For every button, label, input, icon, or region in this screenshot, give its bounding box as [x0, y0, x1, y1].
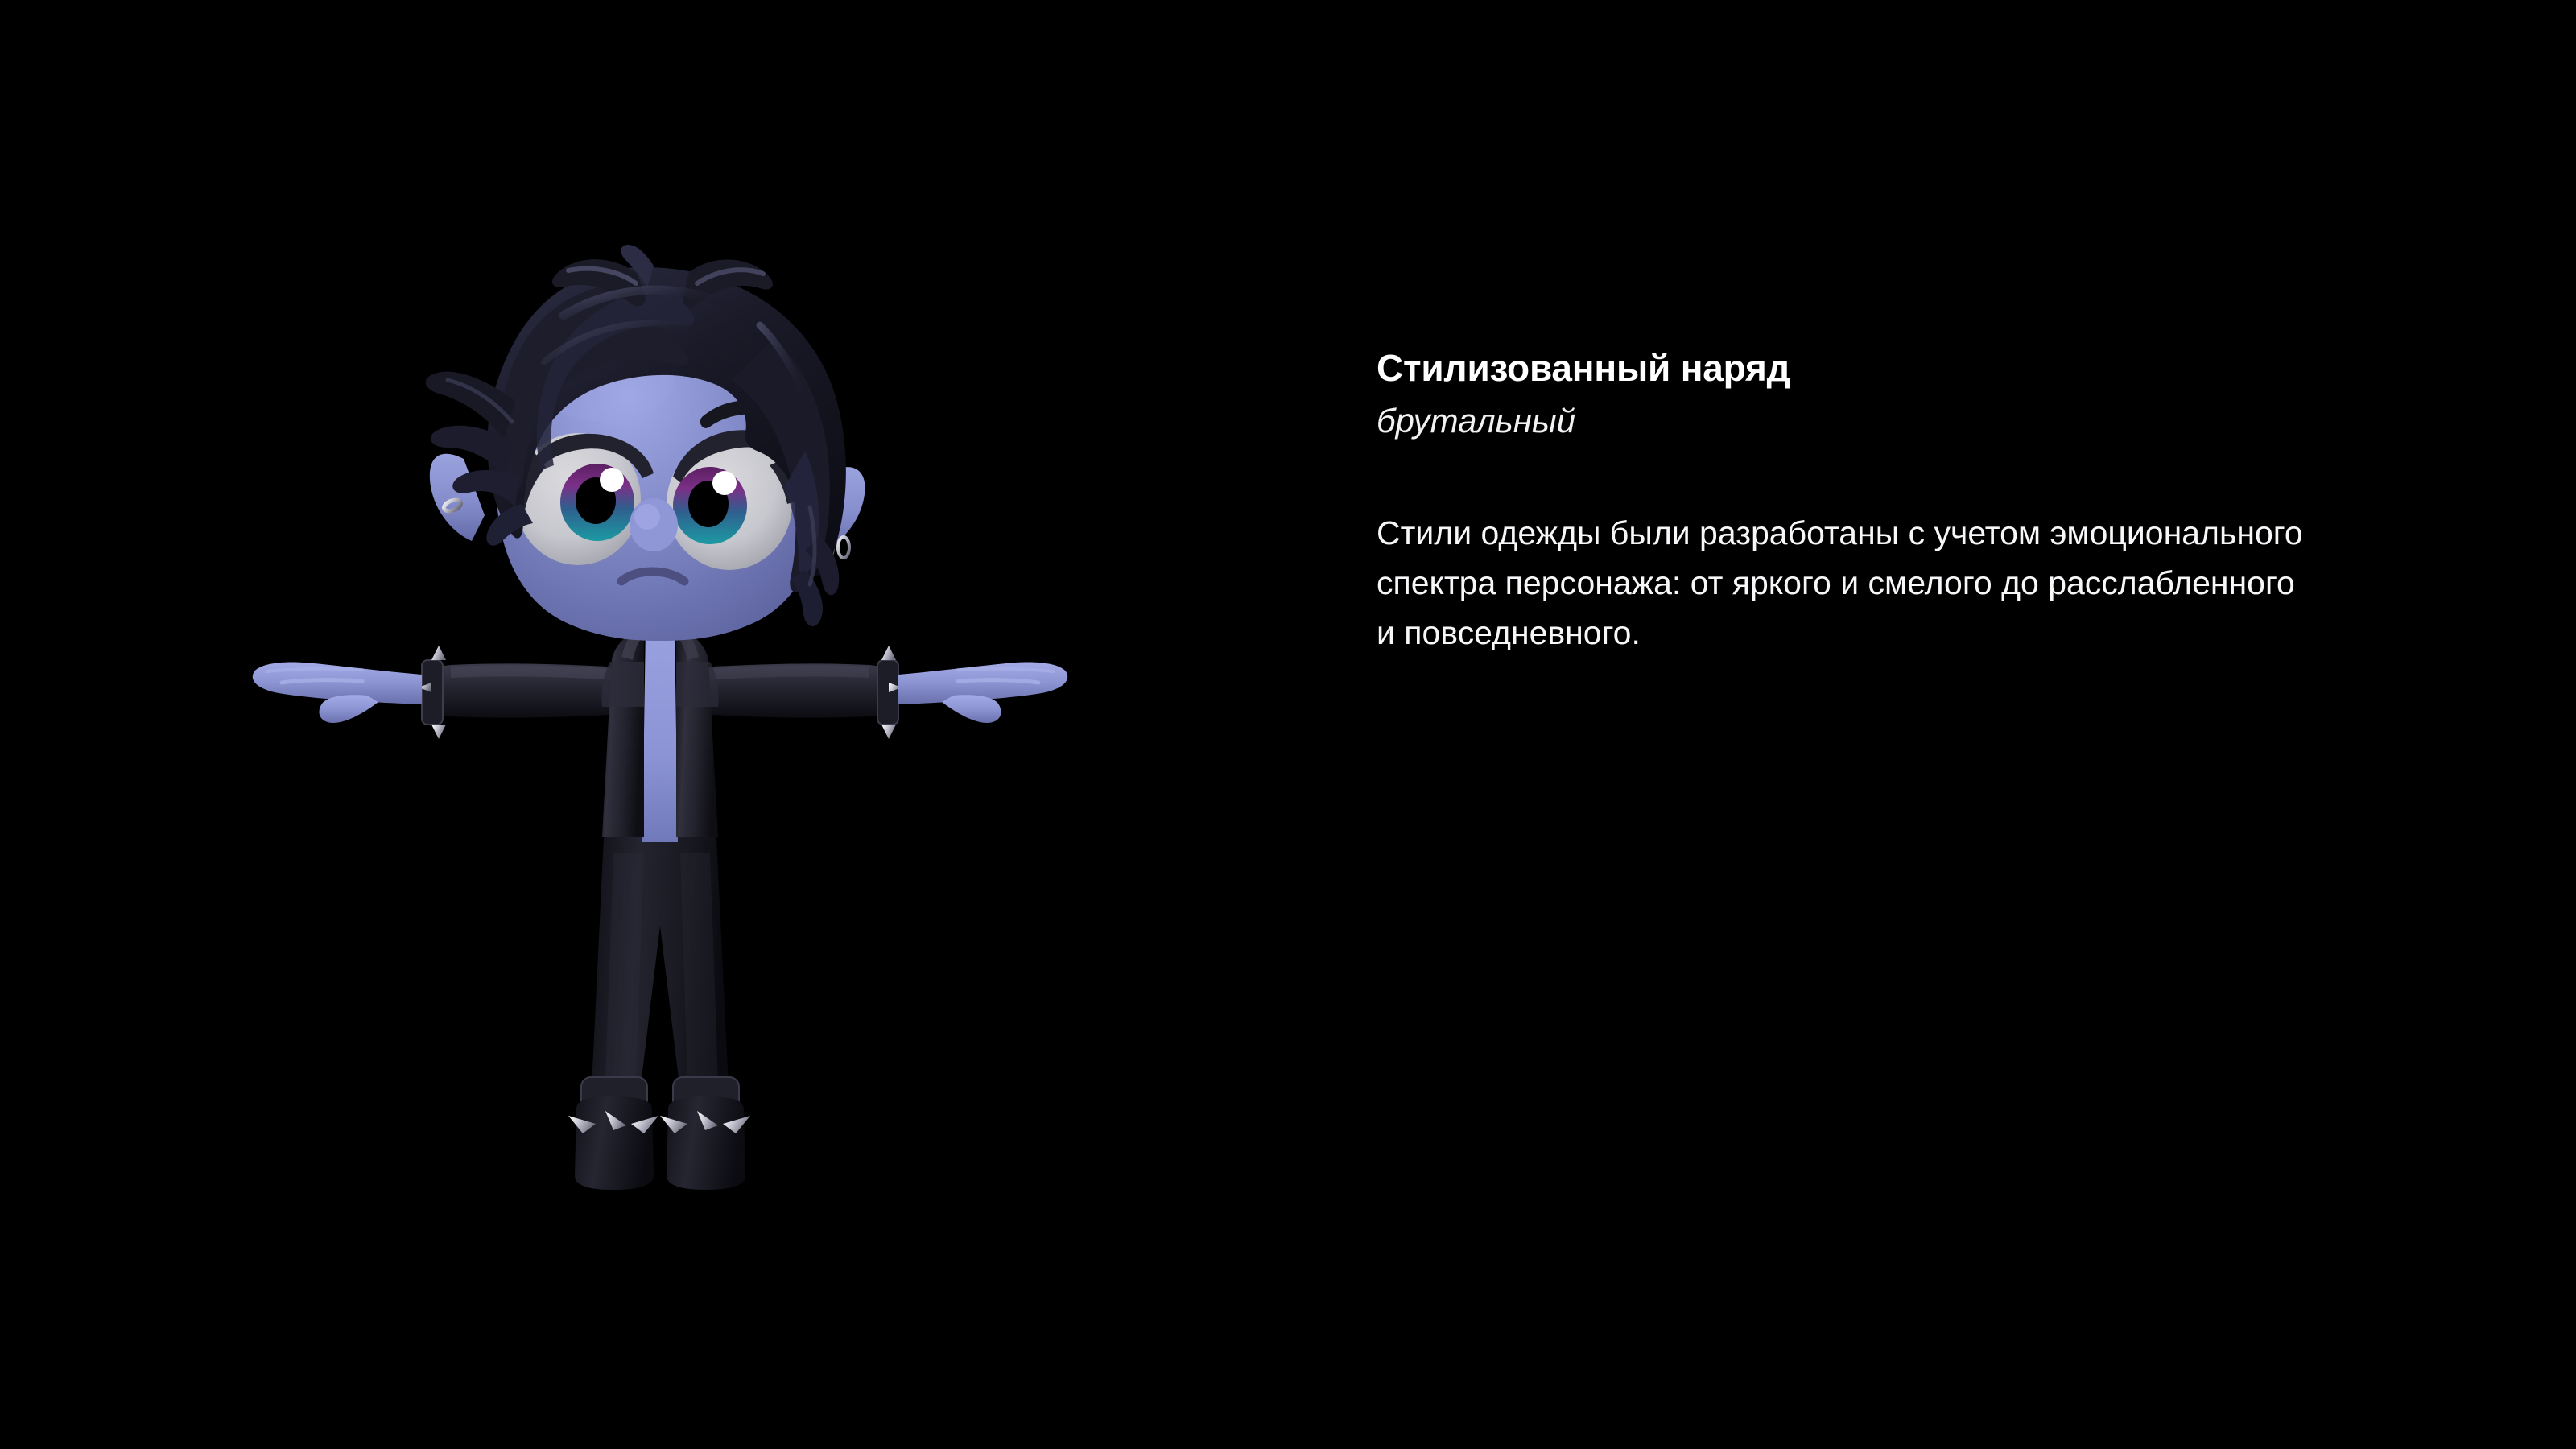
character-zone	[0, 0, 1288, 1449]
character-left-arm	[253, 646, 640, 739]
boot-left	[568, 1077, 658, 1190]
character-boots	[568, 1077, 750, 1190]
hand-left	[253, 662, 422, 723]
outfit-text-panel: Стилизованный наряд брутальный Стили оде…	[1377, 346, 2383, 658]
character-render	[0, 0, 1288, 1449]
hand-right	[898, 662, 1067, 723]
character-legs	[592, 837, 729, 1092]
shirt-panel	[642, 625, 678, 842]
outfit-subtitle: брутальный	[1377, 401, 2383, 441]
earring-right-lower	[838, 537, 849, 558]
outfit-description: Стили одежды были разработаны с учетом э…	[1377, 508, 2310, 658]
outfit-title: Стилизованный наряд	[1377, 346, 2383, 390]
character-torso	[601, 625, 718, 842]
boot-right	[660, 1077, 750, 1190]
slide-stage: Стилизованный наряд брутальный Стили оде…	[0, 0, 2576, 1449]
character-right-arm	[680, 646, 1067, 739]
ear-left	[430, 454, 485, 541]
